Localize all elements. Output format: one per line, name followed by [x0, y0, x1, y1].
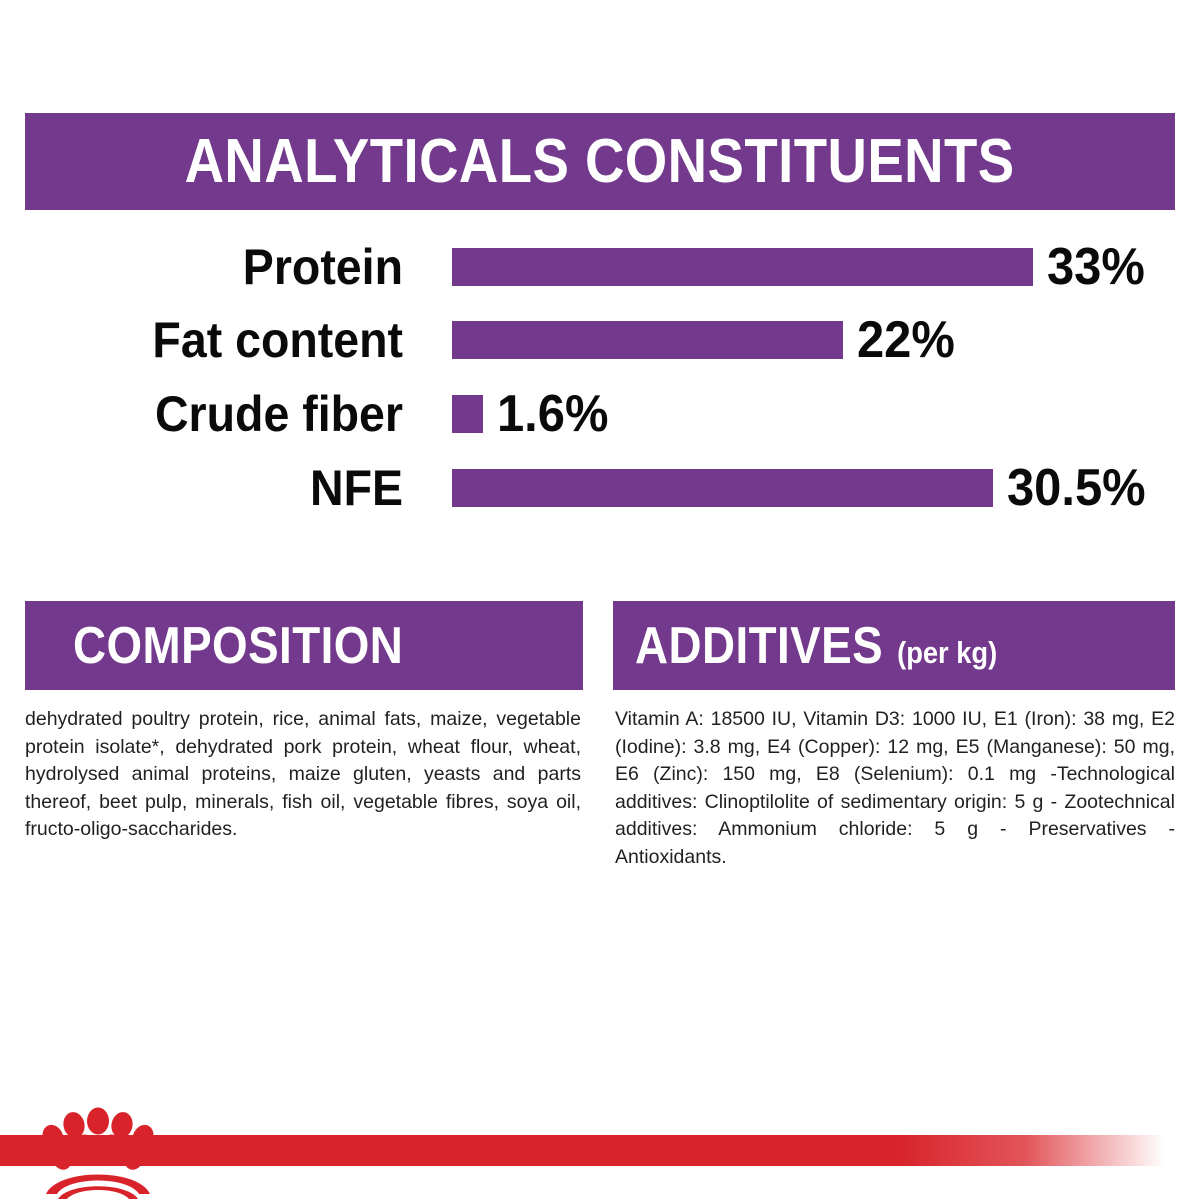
additives-text: Vitamin A: 18500 IU, Vitamin D3: 1000 IU… — [615, 706, 1175, 871]
bar-fill-fat-content — [452, 321, 843, 359]
footer-red-rule — [0, 1135, 1165, 1166]
bar-track-crude-fiber: 1.6% — [452, 388, 616, 440]
additives-title-row: ADDITIVES (per kg) — [635, 620, 997, 672]
analytical-constituents-bar-chart: Protein 33% Fat content 22% Crude fiber … — [0, 236, 1200, 536]
bar-value-protein: 33% — [1047, 241, 1145, 293]
bar-row-crude-fiber: Crude fiber 1.6% — [0, 383, 1200, 445]
analyticals-constituents-banner: ANALYTICALS CONSTITUENTS — [25, 113, 1175, 210]
additives-title: ADDITIVES — [635, 620, 883, 672]
bar-value-fat-content: 22% — [857, 314, 955, 366]
bar-label-protein: Protein — [28, 242, 403, 292]
additives-per-kg-label: (per kg) — [897, 637, 997, 668]
bar-fill-crude-fiber — [452, 395, 483, 433]
bar-row-fat-content: Fat content 22% — [0, 309, 1200, 371]
bar-track-nfe: 30.5% — [452, 462, 1154, 514]
bar-value-nfe: 30.5% — [1007, 462, 1146, 514]
composition-banner: COMPOSITION — [25, 601, 583, 690]
additives-banner: ADDITIVES (per kg) — [613, 601, 1175, 690]
bar-label-crude-fiber: Crude fiber — [28, 389, 403, 439]
product-nutrition-panel: ANALYTICALS CONSTITUENTS Protein 33% Fat… — [0, 0, 1200, 1200]
bar-label-fat-content: Fat content — [28, 315, 403, 365]
brand-footer — [0, 1106, 1200, 1200]
bar-fill-nfe — [452, 469, 993, 507]
bar-row-protein: Protein 33% — [0, 236, 1200, 298]
bar-label-nfe: NFE — [28, 463, 403, 513]
bar-track-fat-content: 22% — [452, 314, 961, 366]
bar-track-protein: 33% — [452, 241, 1151, 293]
bar-row-nfe: NFE 30.5% — [0, 457, 1200, 519]
royal-canin-crown-icon — [36, 1106, 160, 1200]
composition-text: dehydrated poultry protein, rice, animal… — [25, 706, 581, 844]
bar-fill-protein — [452, 248, 1033, 286]
bar-value-crude-fiber: 1.6% — [497, 388, 608, 440]
composition-title: COMPOSITION — [73, 620, 403, 672]
analyticals-constituents-title: ANALYTICALS CONSTITUENTS — [185, 131, 1015, 193]
